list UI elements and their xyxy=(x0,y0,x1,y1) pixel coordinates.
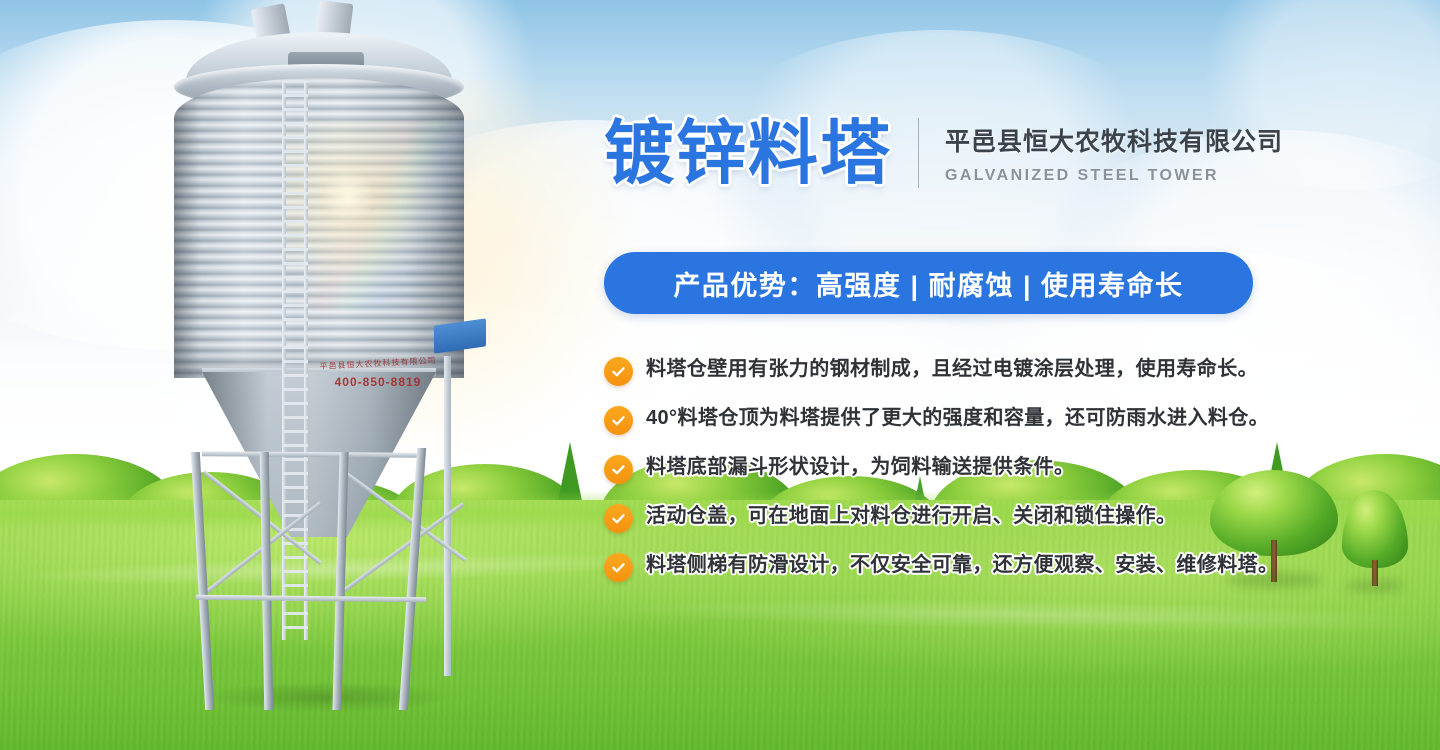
tree-canopy xyxy=(1342,490,1408,568)
silo-ground-shadow xyxy=(202,682,452,712)
silo-brace xyxy=(202,451,418,458)
silo-brace xyxy=(196,595,426,602)
feature-item-label: 40°料塔仓顶为料塔提供了更大的强度和容量，还可防雨水进入料仓。 xyxy=(646,405,1269,432)
silo-ladder xyxy=(282,80,308,640)
feature-item: 料塔侧梯有防滑设计，不仅安全可靠，还方便观察、安装、维修料塔。 xyxy=(604,552,1304,582)
company-name-en: GALVANIZED STEEL TOWER xyxy=(945,167,1283,185)
feature-list: 料塔仓壁用有张力的钢材制成，且经过电镀涂层处理，使用寿命长。40°料塔仓顶为料塔… xyxy=(604,356,1304,601)
silo-body xyxy=(174,78,464,378)
feature-item-label: 料塔侧梯有防滑设计，不仅安全可靠，还方便观察、安装、维修料塔。 xyxy=(646,552,1278,579)
product-image-silo: 平邑县恒大农牧科技有限公司 400-850-8819 xyxy=(92,0,512,750)
silo-leg xyxy=(191,452,214,710)
feature-item-label: 料塔底部漏斗形状设计，为饲料输送提供条件。 xyxy=(646,454,1074,481)
advantage-badge-label: 产品优势：高强度 | 耐腐蚀 | 使用寿命长 xyxy=(673,264,1183,303)
headline-row: 镀锌料塔 平邑县恒大农牧科技有限公司 GALVANIZED STEEL TOWE… xyxy=(604,118,1283,188)
company-name-cn: 平邑县恒大农牧科技有限公司 xyxy=(945,122,1283,158)
feature-item: 料塔仓壁用有张力的钢材制成，且经过电镀涂层处理，使用寿命长。 xyxy=(604,356,1304,386)
ladder-rungs xyxy=(282,80,308,640)
page-title: 镀锌料塔 xyxy=(604,118,892,188)
brand-block: 平邑县恒大农牧科技有限公司 GALVANIZED STEEL TOWER xyxy=(945,122,1283,185)
silo-blue-plate xyxy=(434,318,486,353)
feature-item-label: 活动仓盖，可在地面上对料仓进行开启、关闭和锁住操作。 xyxy=(646,503,1176,530)
feature-item: 活动仓盖，可在地面上对料仓进行开启、关闭和锁住操作。 xyxy=(604,503,1304,533)
silo-leg xyxy=(399,448,426,710)
check-icon xyxy=(604,406,633,435)
hero-banner-scene: 平邑县恒大农牧科技有限公司 400-850-8819 镀锌料塔 平邑县恒大农牧科… xyxy=(0,0,1440,750)
advantage-badge: 产品优势：高强度 | 耐腐蚀 | 使用寿命长 xyxy=(604,252,1253,314)
title-divider xyxy=(918,118,919,188)
feature-item: 40°料塔仓顶为料塔提供了更大的强度和容量，还可防雨水进入料仓。 xyxy=(604,405,1304,435)
feature-item-label: 料塔仓壁用有张力的钢材制成，且经过电镀涂层处理，使用寿命长。 xyxy=(646,356,1258,383)
banner-content: 镀锌料塔 平邑县恒大农牧科技有限公司 GALVANIZED STEEL TOWE… xyxy=(604,0,1304,750)
feature-item: 料塔底部漏斗形状设计，为饲料输送提供条件。 xyxy=(604,454,1304,484)
check-icon xyxy=(604,504,633,533)
tree-shadow xyxy=(1346,580,1404,592)
check-icon xyxy=(604,455,633,484)
check-icon xyxy=(604,357,633,386)
check-icon xyxy=(604,553,633,582)
lawn-tree xyxy=(1338,490,1412,586)
